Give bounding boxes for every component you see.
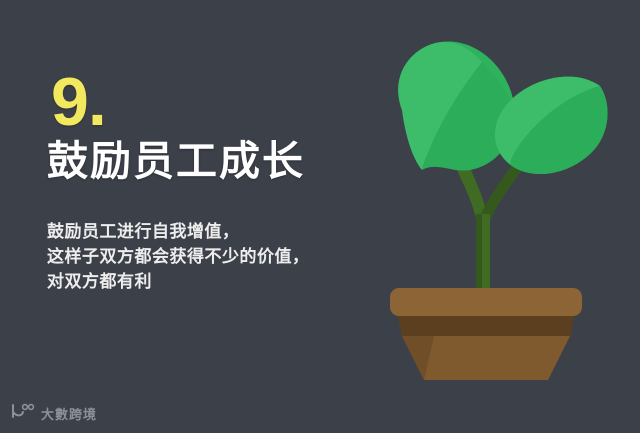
watermark: 大數跨境 <box>10 403 97 424</box>
flower-pot <box>390 288 582 380</box>
item-number: 9. <box>51 70 377 135</box>
watermark-text: 大數跨境 <box>41 404 97 423</box>
k-circles-logo-icon <box>10 403 36 424</box>
page-title: 鼓励员工成长 <box>47 139 377 185</box>
body-copy: 鼓励员工进行自我增值， 这样子双方都会获得不少的价值， 对双方都有利 <box>47 219 377 294</box>
leaf-left <box>398 41 514 170</box>
body-line-2: 这样子双方都会获得不少的价值， <box>47 244 377 269</box>
leaf-right <box>495 77 608 174</box>
body-line-1: 鼓励员工进行自我增值， <box>47 219 377 244</box>
text-column: 9. 鼓励员工成长 鼓励员工进行自我增值， 这样子双方都会获得不少的价值， 对双… <box>47 70 377 294</box>
body-line-3: 对双方都有利 <box>47 269 377 294</box>
slide-canvas: 9. 鼓励员工成长 鼓励员工进行自我增值， 这样子双方都会获得不少的价值， 对双… <box>0 0 640 433</box>
potted-plant-illustration <box>372 18 622 380</box>
